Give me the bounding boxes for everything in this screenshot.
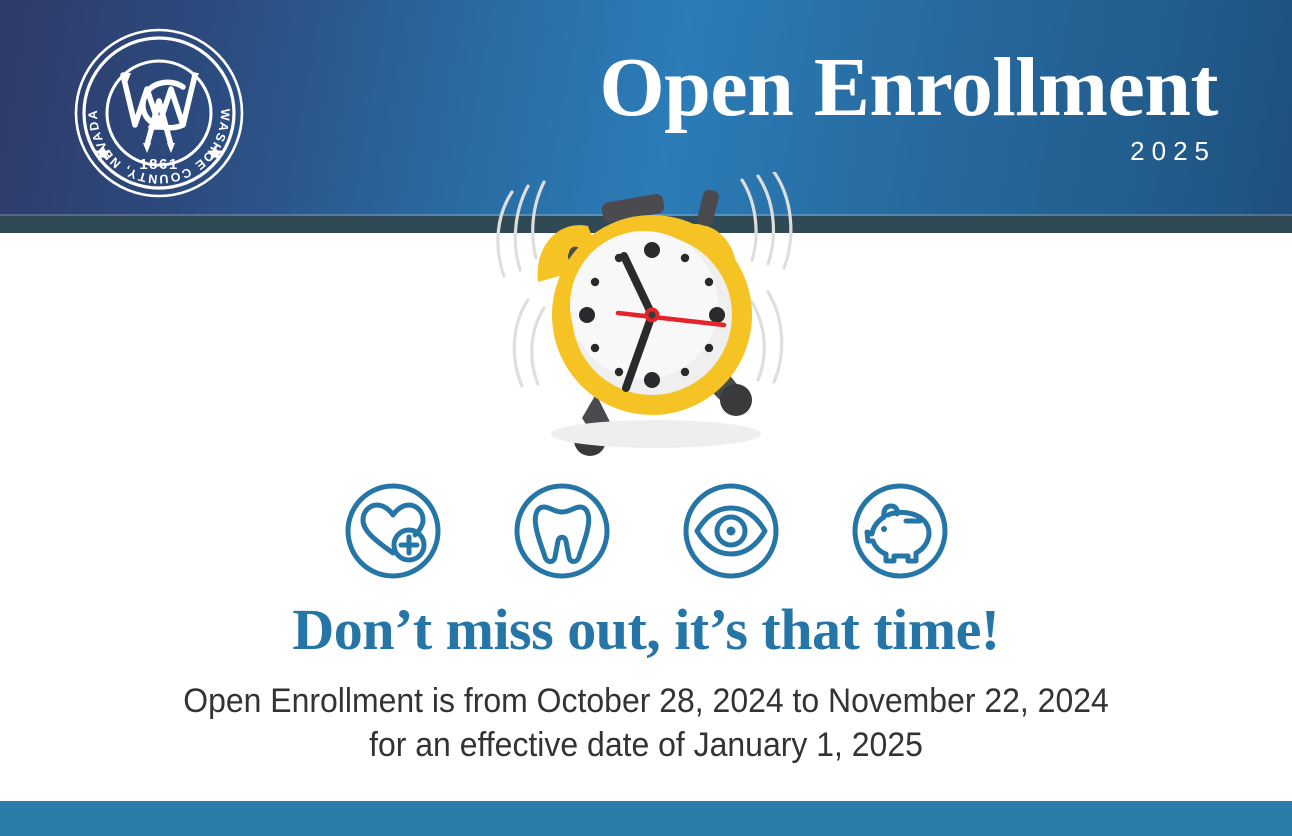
body-line-effective-date: for an effective date of January 1, 2025 xyxy=(39,723,1253,767)
seal-year-text: 1861 xyxy=(139,156,178,173)
title-block: Open Enrollment 2025 xyxy=(599,48,1218,167)
benefit-icon-savings xyxy=(850,481,950,581)
page-title: Open Enrollment xyxy=(599,48,1218,128)
plan-year: 2025 xyxy=(599,136,1218,167)
washoe-county-seal-logo: WASHOE COUNTY, NEVADA 1861 xyxy=(73,27,245,199)
benefit-icon-dental xyxy=(512,481,612,581)
motion-lines-right xyxy=(742,172,791,382)
tooth-icon xyxy=(512,481,612,581)
alarm-clock-illustration xyxy=(484,172,814,462)
benefit-icon-medical xyxy=(343,481,443,581)
clock-shadow xyxy=(551,420,761,448)
seal-monogram xyxy=(123,75,195,145)
benefit-icon-vision xyxy=(681,481,781,581)
open-enrollment-poster: WASHOE COUNTY, NEVADA 1861 xyxy=(0,0,1292,836)
motion-lines-left xyxy=(498,182,544,386)
piggy-bank-icon xyxy=(850,481,950,581)
benefit-icons-row xyxy=(0,481,1292,581)
body-line-dates: Open Enrollment is from October 28, 2024… xyxy=(39,679,1253,723)
headline: Don’t miss out, it’s that time! xyxy=(0,601,1292,659)
eye-icon xyxy=(681,481,781,581)
body-copy: Open Enrollment is from October 28, 2024… xyxy=(0,679,1292,767)
heart-medical-cross-icon xyxy=(343,481,443,581)
footer-bar xyxy=(0,801,1292,836)
